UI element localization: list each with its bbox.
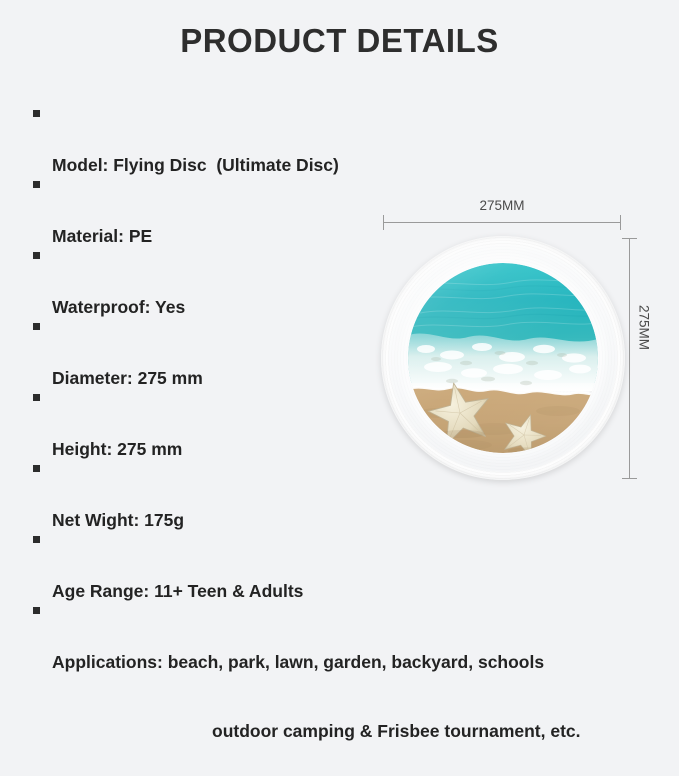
bullet-square-icon	[33, 465, 40, 472]
spec-text: Applications: beach, park, lawn, garden,…	[52, 654, 670, 672]
bullet-square-icon	[33, 181, 40, 188]
spec-item-material: Material: PE	[30, 175, 670, 246]
spec-item-age-range: Age Range: 11+ Teen & Adults	[30, 530, 670, 601]
spec-item-waterproof: Waterproof: Yes	[30, 246, 670, 317]
product-details-page: PRODUCT DETAILS Model: Flying Disc (Ulti…	[0, 0, 679, 679]
spec-item-height: Height: 275 mm	[30, 388, 670, 459]
spec-item-model: Model: Flying Disc (Ultimate Disc)	[30, 104, 670, 175]
spec-text: Age Range: 11+ Teen & Adults	[52, 583, 670, 601]
spec-text: Diameter: 275 mm	[52, 370, 670, 388]
spec-text: Net Wight: 175g	[52, 512, 670, 530]
spec-item-diameter: Diameter: 275 mm	[30, 317, 670, 388]
spec-list: Model: Flying Disc (Ultimate Disc) Mater…	[30, 104, 670, 672]
bullet-square-icon	[33, 110, 40, 117]
bullet-square-icon	[33, 607, 40, 614]
bullet-square-icon	[33, 252, 40, 259]
bullet-square-icon	[33, 536, 40, 543]
bullet-square-icon	[33, 394, 40, 401]
spec-text: Material: PE	[52, 228, 670, 246]
spec-text: Waterproof: Yes	[52, 299, 670, 317]
spec-text-continuation: outdoor camping & Frisbee tournament, et…	[52, 723, 670, 741]
page-title: PRODUCT DETAILS	[0, 22, 679, 60]
spec-text: Model: Flying Disc (Ultimate Disc)	[52, 157, 670, 175]
bullet-square-icon	[33, 323, 40, 330]
spec-text: Height: 275 mm	[52, 441, 670, 459]
spec-item-applications: Applications: beach, park, lawn, garden,…	[30, 601, 670, 672]
spec-item-net-weight: Net Wight: 175g	[30, 459, 670, 530]
